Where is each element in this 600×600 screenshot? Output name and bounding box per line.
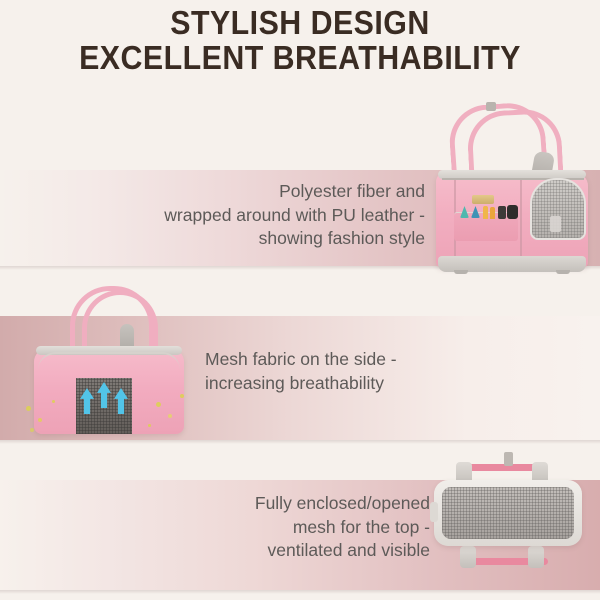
pocket-item-yellow-1: [483, 206, 488, 219]
bag-handle-clip: [486, 102, 496, 111]
pollen-particle: [30, 428, 34, 432]
bag-base: [36, 426, 182, 440]
pollen-particle: [168, 414, 172, 418]
bag-strap-anchor: [528, 546, 544, 568]
bag-foot-right: [556, 270, 570, 274]
bag-mesh-inner-detail: [550, 216, 561, 232]
feature-caption-3: Fully enclosed/opened mesh for the top -…: [180, 492, 430, 563]
pollen-particle: [38, 418, 42, 422]
pollen-particle: [26, 406, 31, 411]
bag-side-mesh-window: [530, 178, 586, 240]
product-image-bag-top-mesh-view: [420, 446, 596, 594]
title-line-2: EXCELLENT BREATHABILITY: [24, 41, 576, 76]
bag-seam-right: [520, 180, 522, 266]
feature-caption-2: Mesh fabric on the side - increasing bre…: [205, 348, 505, 395]
bag-top-mesh-panel: [442, 487, 574, 539]
product-image-bag-three-quarter-view: [428, 96, 600, 286]
pollen-particle: [52, 400, 55, 403]
pollen-particle: [180, 394, 184, 398]
feature-caption-1: Polyester fiber and wrapped around with …: [95, 180, 425, 251]
bag-strap-clip: [504, 452, 513, 466]
title-line-1: STYLISH DESIGN: [24, 6, 576, 41]
bag-side-tab: [430, 502, 438, 522]
pollen-particle: [156, 402, 161, 407]
pocket-item-yellow-2: [490, 207, 495, 219]
bag-top-curve-seam: [38, 352, 180, 380]
product-image-bag-side-mesh-view: [8, 282, 198, 462]
page-title: STYLISH DESIGN EXCELLENT BREATHABILITY: [0, 6, 600, 76]
bag-foot-left: [454, 270, 468, 274]
bag-strap-anchor: [460, 546, 476, 568]
pocket-item-dark-2: [507, 205, 518, 219]
pollen-particle: [148, 424, 151, 427]
bag-logo-patch: [472, 195, 494, 204]
pocket-item-dark-1: [498, 206, 506, 219]
infographic-canvas: STYLISH DESIGN EXCELLENT BREATHABILITY P…: [0, 0, 600, 600]
